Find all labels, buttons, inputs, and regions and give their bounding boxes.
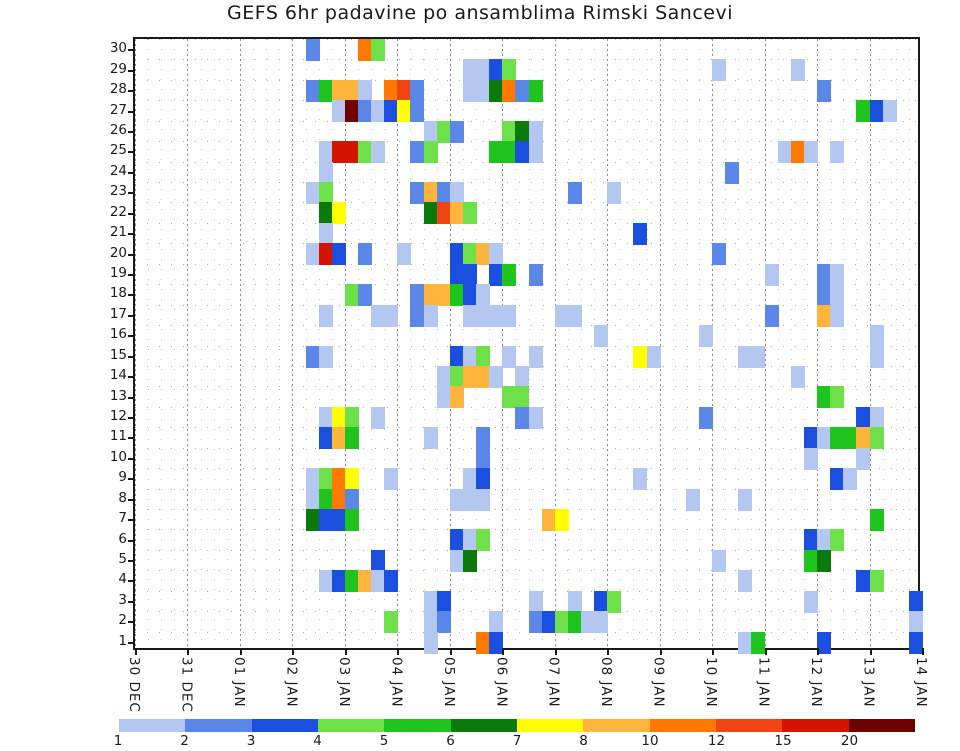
y-axis-tick-label: 3 xyxy=(93,592,127,608)
heatmap-cell xyxy=(778,141,792,163)
colorbar-tick-label: 15 xyxy=(768,733,798,749)
heatmap-cell xyxy=(319,223,333,245)
heatmap-cell xyxy=(817,386,831,408)
heatmap-cell xyxy=(870,570,884,592)
heatmap-cell xyxy=(463,489,477,511)
y-axis-tick-mark xyxy=(128,601,135,603)
heatmap-cell xyxy=(384,305,398,327)
y-axis-tick-mark xyxy=(128,540,135,542)
heatmap-cell xyxy=(804,550,818,572)
heatmap-cell xyxy=(424,632,438,654)
y-axis-tick-mark xyxy=(128,294,135,296)
heatmap-cell xyxy=(817,550,831,572)
heatmap-cell xyxy=(594,591,608,613)
heatmap-cell xyxy=(319,407,333,429)
y-axis-tick-mark xyxy=(128,274,135,276)
heatmap-cell xyxy=(712,550,726,572)
heatmap-cell xyxy=(424,427,438,449)
colorbar-tick-label: 3 xyxy=(236,733,266,749)
heatmap-cell xyxy=(410,80,424,102)
heatmap-cell xyxy=(843,427,857,449)
heatmap-cell xyxy=(804,427,818,449)
heatmap-cell xyxy=(489,141,503,163)
colorbar-tick-label: 1 xyxy=(103,733,133,749)
heatmap-cell xyxy=(306,346,320,368)
heatmap-cell xyxy=(332,509,346,531)
heatmap-cell xyxy=(830,468,844,490)
y-axis-tick-label: 20 xyxy=(93,245,127,261)
y-axis-tick-mark xyxy=(128,254,135,256)
colorbar-band xyxy=(517,719,583,732)
y-axis-tick-mark xyxy=(128,70,135,72)
y-axis-tick-mark xyxy=(128,376,135,378)
heatmap-cell xyxy=(463,305,477,327)
heatmap-cell xyxy=(542,611,556,633)
heatmap-cell xyxy=(332,80,346,102)
x-axis-tick-label: 12 JAN xyxy=(807,657,823,708)
heatmap-cell xyxy=(870,100,884,122)
heatmap-cell xyxy=(345,100,359,122)
heatmap-cell xyxy=(633,223,647,245)
y-axis-tick-label: 16 xyxy=(93,326,127,342)
heatmap-cell xyxy=(529,346,543,368)
heatmap-cell xyxy=(371,305,385,327)
heatmap-cell xyxy=(476,448,490,470)
heatmap-cell xyxy=(424,202,438,224)
x-axis-tick-mark xyxy=(187,648,189,655)
x-axis-tick-label: 13 JAN xyxy=(860,657,876,708)
heatmap-cell xyxy=(568,611,582,633)
heatmap-cell xyxy=(319,141,333,163)
y-axis-tick-label: 17 xyxy=(93,306,127,322)
y-axis-tick-mark xyxy=(128,90,135,92)
heatmap-cell xyxy=(358,284,372,306)
heatmap-cell xyxy=(450,243,464,265)
colorbar-band xyxy=(849,719,915,732)
heatmap-cell xyxy=(450,366,464,388)
heatmap-cell xyxy=(319,570,333,592)
heatmap-cell xyxy=(870,427,884,449)
heatmap-cell xyxy=(489,366,503,388)
heatmap-cell xyxy=(476,346,490,368)
colorbar-tick-label: 12 xyxy=(702,733,732,749)
heatmap-cell xyxy=(699,407,713,429)
y-axis-tick-label: 7 xyxy=(93,510,127,526)
heatmap-cell xyxy=(489,243,503,265)
heatmap-cell xyxy=(476,366,490,388)
heatmap-cell xyxy=(437,284,451,306)
heatmap-cell xyxy=(843,468,857,490)
heatmap-cell xyxy=(870,407,884,429)
heatmap-cell xyxy=(489,611,503,633)
heatmap-cell xyxy=(345,570,359,592)
heatmap-cell xyxy=(332,407,346,429)
colorbar-tick-label: 4 xyxy=(303,733,333,749)
heatmap-cell xyxy=(555,509,569,531)
heatmap-cell xyxy=(463,284,477,306)
colorbar-tick-label: 5 xyxy=(369,733,399,749)
heatmap-cell xyxy=(306,468,320,490)
heatmap-cell xyxy=(463,346,477,368)
heatmap-cell xyxy=(332,202,346,224)
heatmap-cell xyxy=(909,632,923,654)
colorbar xyxy=(118,718,916,733)
x-axis-tick-label: 09 JAN xyxy=(650,657,666,708)
colorbar-band xyxy=(650,719,716,732)
heatmap-cell xyxy=(633,346,647,368)
heatmap-cell xyxy=(909,611,923,633)
heatmap-cell xyxy=(463,366,477,388)
heatmap-cell xyxy=(424,141,438,163)
heatmap-cell xyxy=(502,59,516,81)
heatmap-cell xyxy=(476,632,490,654)
heatmap-cell xyxy=(410,284,424,306)
heatmap-cell xyxy=(306,509,320,531)
heatmap-cell xyxy=(765,264,779,286)
x-axis-tick-label: 30 DEC xyxy=(125,657,141,713)
heatmap-cell xyxy=(358,570,372,592)
heatmap-cell xyxy=(332,468,346,490)
heatmap-cell xyxy=(424,284,438,306)
heatmap-cell xyxy=(358,141,372,163)
y-axis-tick-mark xyxy=(128,151,135,153)
heatmap-cell xyxy=(424,591,438,613)
heatmap-cell xyxy=(437,591,451,613)
heatmap-cell xyxy=(384,468,398,490)
heatmap-cell xyxy=(306,489,320,511)
x-axis-tick-mark xyxy=(922,648,924,655)
heatmap-cell xyxy=(568,591,582,613)
y-axis-tick-label: 2 xyxy=(93,612,127,628)
heatmap-cell xyxy=(529,611,543,633)
y-axis-tick-label: 26 xyxy=(93,122,127,138)
heatmap-cell xyxy=(476,427,490,449)
heatmap-cell xyxy=(738,346,752,368)
heatmap-cell xyxy=(437,202,451,224)
heatmap-cell xyxy=(830,529,844,551)
colorbar-band xyxy=(318,719,384,732)
heatmap-cell xyxy=(437,386,451,408)
heatmap-cell xyxy=(319,427,333,449)
y-axis-tick-mark xyxy=(128,213,135,215)
heatmap-cell xyxy=(371,570,385,592)
y-axis-tick-mark xyxy=(128,499,135,501)
heatmap-cell xyxy=(515,386,529,408)
y-axis-tick-label: 8 xyxy=(93,490,127,506)
heatmap-cell xyxy=(410,182,424,204)
heatmap-cell xyxy=(450,529,464,551)
heatmap-cell xyxy=(450,386,464,408)
heatmap-cell xyxy=(529,264,543,286)
heatmap-cell xyxy=(568,182,582,204)
x-axis-tick-label: 31 DEC xyxy=(177,657,193,713)
heatmap-cell xyxy=(909,591,923,613)
heatmap-cell xyxy=(476,243,490,265)
heatmap-cell xyxy=(515,407,529,429)
heatmap-cell xyxy=(345,489,359,511)
heatmap-cell xyxy=(424,305,438,327)
heatmap-cell xyxy=(502,386,516,408)
heatmap-cell xyxy=(450,202,464,224)
heatmap-cell xyxy=(332,570,346,592)
heatmap-cell xyxy=(633,468,647,490)
heatmap-cell xyxy=(804,141,818,163)
heatmap-cell xyxy=(306,39,320,61)
heatmap-cell xyxy=(738,570,752,592)
y-axis-tick-mark xyxy=(128,315,135,317)
heatmap-cell xyxy=(529,591,543,613)
colorbar-tick-label: 20 xyxy=(835,733,865,749)
heatmap-cell xyxy=(319,162,333,184)
heatmap-cell xyxy=(437,611,451,633)
x-axis-tick-mark xyxy=(765,648,767,655)
heatmap-cell xyxy=(463,202,477,224)
heatmap-cell xyxy=(804,529,818,551)
heatmap-cell xyxy=(738,489,752,511)
y-axis-tick-label: 30 xyxy=(93,40,127,56)
y-axis-tick-mark xyxy=(128,335,135,337)
heatmap-cell xyxy=(319,346,333,368)
heatmap-cell xyxy=(751,346,765,368)
heatmap-cell xyxy=(751,632,765,654)
y-axis-tick-label: 19 xyxy=(93,265,127,281)
colorbar-band xyxy=(782,719,848,732)
x-axis-tick-label: 07 JAN xyxy=(545,657,561,708)
heatmap-cell xyxy=(817,632,831,654)
heatmap-cell xyxy=(804,591,818,613)
heatmap-cell xyxy=(502,264,516,286)
heatmap-cell xyxy=(476,305,490,327)
heatmap-cell xyxy=(463,264,477,286)
x-axis-tick-mark xyxy=(240,648,242,655)
heatmap-cell xyxy=(856,570,870,592)
heatmap-cell xyxy=(332,100,346,122)
x-axis-tick-label: 05 JAN xyxy=(440,657,456,708)
heatmap-cell xyxy=(410,141,424,163)
heatmap-cell xyxy=(358,100,372,122)
x-axis-tick-mark xyxy=(345,648,347,655)
x-axis-tick-mark xyxy=(450,648,452,655)
heatmap-cell xyxy=(424,182,438,204)
heatmap-cell xyxy=(345,427,359,449)
y-axis-tick-label: 1 xyxy=(93,633,127,649)
heatmap-cell xyxy=(581,611,595,633)
heatmap-cell xyxy=(529,80,543,102)
heatmap-cell xyxy=(371,407,385,429)
y-axis-tick-mark xyxy=(128,49,135,51)
colorbar-tick-label: 6 xyxy=(436,733,466,749)
page-title: GEFS 6hr padavine po ansamblima Rimski S… xyxy=(0,2,960,24)
x-axis-tick-mark xyxy=(607,648,609,655)
y-axis-tick-label: 28 xyxy=(93,81,127,97)
heatmap-cell xyxy=(450,550,464,572)
heatmap-cell xyxy=(384,611,398,633)
heatmap-cell xyxy=(397,243,411,265)
colorbar-labels: 1234567810121520 xyxy=(118,733,916,751)
x-axis-tick-label: 02 JAN xyxy=(282,657,298,708)
heatmap-cell xyxy=(384,80,398,102)
heatmap-cell xyxy=(345,141,359,163)
x-axis-tick-mark xyxy=(817,648,819,655)
y-axis-tick-label: 15 xyxy=(93,347,127,363)
y-axis-tick-mark xyxy=(128,560,135,562)
heatmap-cell xyxy=(306,182,320,204)
heatmap-cell xyxy=(306,80,320,102)
heatmap-cell xyxy=(450,489,464,511)
heatmap-cell xyxy=(817,427,831,449)
heatmap-cell xyxy=(542,509,556,531)
y-axis-tick-mark xyxy=(128,131,135,133)
heatmap-cell xyxy=(476,489,490,511)
heatmap-cell xyxy=(856,100,870,122)
heatmap-cell xyxy=(830,386,844,408)
heatmap-cell xyxy=(463,468,477,490)
heatmap-cell xyxy=(463,550,477,572)
y-axis-tick-label: 6 xyxy=(93,531,127,547)
heatmap-cell xyxy=(830,305,844,327)
heatmap-cell xyxy=(529,121,543,143)
y-axis-tick-label: 13 xyxy=(93,388,127,404)
heatmap-cell xyxy=(817,284,831,306)
precipitation-heatmap-plot: 3029282726252423222120191817161514131211… xyxy=(133,37,920,650)
x-axis-tick-label: 10 JAN xyxy=(702,657,718,708)
y-axis-tick-label: 11 xyxy=(93,428,127,444)
heatmap-cell xyxy=(555,305,569,327)
y-axis-tick-mark xyxy=(128,458,135,460)
y-axis-tick-mark xyxy=(128,397,135,399)
heatmap-cell xyxy=(883,100,897,122)
heatmap-cell xyxy=(332,141,346,163)
y-axis-tick-mark xyxy=(128,642,135,644)
heatmap-cell xyxy=(371,39,385,61)
y-axis-tick-mark xyxy=(128,519,135,521)
x-axis-tick-label: 01 JAN xyxy=(230,657,246,708)
y-axis-tick-label: 27 xyxy=(93,102,127,118)
heatmap-cell xyxy=(856,427,870,449)
heatmap-cell xyxy=(358,80,372,102)
heatmap-cell xyxy=(529,407,543,429)
heatmap-cell xyxy=(397,100,411,122)
heatmap-cell xyxy=(450,284,464,306)
colorbar-band xyxy=(185,719,251,732)
heatmap-cell xyxy=(397,80,411,102)
heatmap-cell xyxy=(410,305,424,327)
y-axis-tick-mark xyxy=(128,478,135,480)
heatmap-cell xyxy=(489,264,503,286)
heatmap-cell xyxy=(463,529,477,551)
heatmap-cell xyxy=(384,100,398,122)
heatmap-cell xyxy=(345,509,359,531)
heatmap-cell xyxy=(515,366,529,388)
heatmap-cell xyxy=(371,100,385,122)
colorbar-band xyxy=(451,719,517,732)
y-axis-tick-label: 24 xyxy=(93,163,127,179)
y-axis-tick-label: 12 xyxy=(93,408,127,424)
heatmap-cell xyxy=(791,59,805,81)
heatmap-cell xyxy=(856,407,870,429)
x-axis-tick-label: 06 JAN xyxy=(492,657,508,708)
heatmap-cell xyxy=(568,305,582,327)
colorbar-band xyxy=(716,719,782,732)
colorbar-band xyxy=(119,719,185,732)
heatmap-cell xyxy=(319,489,333,511)
colorbar-tick-label: 2 xyxy=(170,733,200,749)
y-axis-tick-label: 22 xyxy=(93,204,127,220)
heatmap-cell xyxy=(410,100,424,122)
heatmap-cell xyxy=(529,141,543,163)
heatmap-cell xyxy=(515,80,529,102)
y-axis-tick-mark xyxy=(128,621,135,623)
colorbar-tick-label: 8 xyxy=(569,733,599,749)
y-axis-tick-label: 14 xyxy=(93,367,127,383)
heatmap-cell xyxy=(502,121,516,143)
heatmap-cell xyxy=(476,529,490,551)
heatmap-cell xyxy=(319,243,333,265)
heatmap-cell xyxy=(699,325,713,347)
heatmap-cell xyxy=(319,305,333,327)
heatmap-cell xyxy=(817,80,831,102)
y-axis-tick-label: 21 xyxy=(93,224,127,240)
y-axis-tick-mark xyxy=(128,192,135,194)
heatmap-cell xyxy=(319,202,333,224)
heatmap-cell xyxy=(463,59,477,81)
heatmap-cell xyxy=(358,243,372,265)
heatmap-cell xyxy=(345,80,359,102)
x-axis-tick-label: 03 JAN xyxy=(335,657,351,708)
heatmap-cell xyxy=(345,284,359,306)
heatmap-cell xyxy=(319,80,333,102)
heatmap-cell xyxy=(870,509,884,531)
heatmap-cell xyxy=(515,141,529,163)
x-axis-tick-mark xyxy=(712,648,714,655)
heatmap-cell xyxy=(306,243,320,265)
heatmap-cell xyxy=(489,59,503,81)
heatmap-cell xyxy=(712,243,726,265)
heatmap-cell xyxy=(319,468,333,490)
y-axis-tick-label: 5 xyxy=(93,551,127,567)
heatmap-cell xyxy=(358,39,372,61)
heatmap-cell xyxy=(804,448,818,470)
heatmap-cell xyxy=(791,141,805,163)
heatmap-cell xyxy=(594,611,608,633)
heatmap-cell xyxy=(817,305,831,327)
x-axis-tick-mark xyxy=(397,648,399,655)
heatmap-cell xyxy=(345,407,359,429)
x-axis-tick-mark xyxy=(502,648,504,655)
heatmap-cell xyxy=(345,468,359,490)
heatmap-cell xyxy=(476,284,490,306)
heatmap-cell xyxy=(738,632,752,654)
heatmap-cell xyxy=(476,468,490,490)
heatmap-cell xyxy=(332,489,346,511)
x-axis-tick-mark xyxy=(555,648,557,655)
heatmap-cell xyxy=(332,427,346,449)
y-axis-tick-mark xyxy=(128,233,135,235)
x-axis-tick-mark xyxy=(660,648,662,655)
heatmap-cell xyxy=(424,611,438,633)
y-axis-tick-mark xyxy=(128,437,135,439)
heatmap-cell xyxy=(450,182,464,204)
x-axis-tick-label: 11 JAN xyxy=(755,657,771,708)
heatmap-cell xyxy=(437,182,451,204)
heatmap-cell xyxy=(870,346,884,368)
heatmap-cell xyxy=(686,489,700,511)
colorbar-band xyxy=(384,719,450,732)
colorbar-band xyxy=(583,719,649,732)
x-axis-tick-label: 14 JAN xyxy=(912,657,928,708)
colorbar-tick-label: 10 xyxy=(635,733,665,749)
heatmap-cell xyxy=(647,346,661,368)
